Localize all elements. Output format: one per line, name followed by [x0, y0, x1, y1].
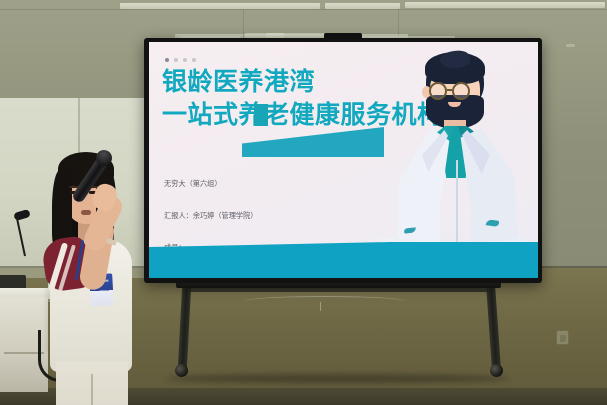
classroom-scene: 银龄医养港湾 一站式养老健康服务机构 无穷大（第六组） 汇报人：余巧婷（管理学院…: [0, 0, 607, 405]
presenter-trousers-seam: [91, 374, 93, 405]
doctor-glasses-bridge: [447, 89, 452, 91]
slide-dot-2: [174, 58, 178, 62]
presentation-slide: 银龄医养港湾 一站式养老健康服务机构 无穷大（第六组） 汇报人：余巧婷（管理学院…: [149, 42, 538, 278]
tv-top-sensor: [324, 33, 362, 39]
presenter-mouth: [81, 210, 91, 215]
tv-stand-caster-right: [490, 364, 503, 377]
slide-dot-1: [165, 58, 169, 62]
wall-panel-seam: [398, 9, 399, 35]
ceiling-edge-line: [0, 9, 607, 10]
ceiling-light-strip: [325, 3, 400, 9]
slide-decor-dots: [165, 58, 196, 62]
tv-stand-caster-left: [175, 364, 188, 377]
tv-display[interactable]: 银龄医养港湾 一站式养老健康服务机构 无穷大（第六组） 汇报人：余巧婷（管理学院…: [144, 38, 542, 283]
doctor-glasses-right-lens: [452, 82, 470, 100]
tv-stand-crossbar-lower: [188, 288, 488, 292]
ceiling-light-strip: [120, 3, 320, 9]
team-name-line: 无穷大（第六组）: [164, 179, 340, 190]
teal-accent-block: [254, 104, 268, 126]
wall-outlet[interactable]: [556, 330, 569, 345]
hanging-cable: [245, 296, 405, 306]
slide-bottom-band: [149, 242, 538, 278]
stand-shadow: [165, 374, 510, 383]
wall-marking: [566, 44, 575, 47]
ceiling-light-strip: [405, 2, 605, 8]
teal-swoosh-shape: [242, 127, 384, 157]
doctor-glasses-left-lens: [429, 82, 447, 100]
hanging-cable-drop: [320, 302, 321, 311]
presenter-line: 汇报人：余巧婷（管理学院）: [164, 211, 340, 222]
student-presenter: [38, 148, 158, 405]
slide-dot-3: [183, 58, 187, 62]
slide-dot-4: [192, 58, 196, 62]
tv-screen[interactable]: 银龄医养港湾 一站式养老健康服务机构 无穷大（第六组） 汇报人：余巧婷（管理学院…: [149, 42, 538, 278]
